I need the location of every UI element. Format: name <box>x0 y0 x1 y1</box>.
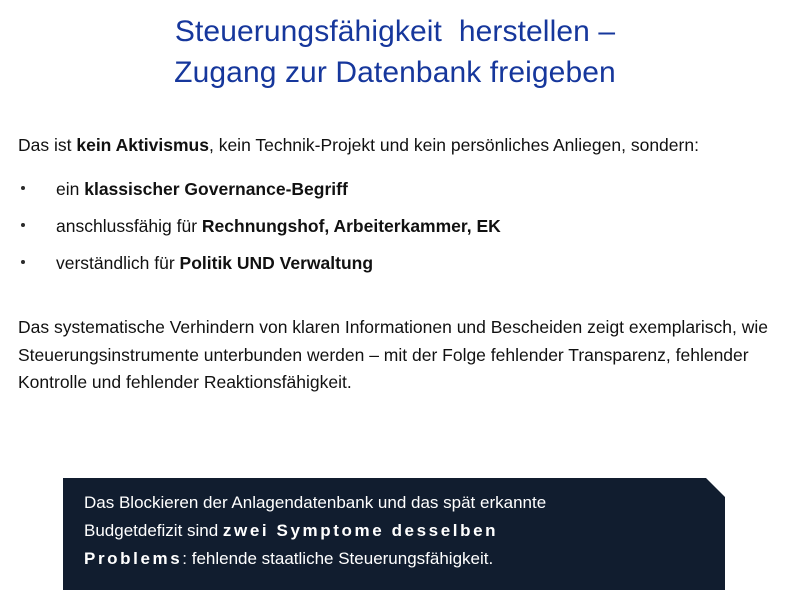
bullet-dot-icon <box>21 223 25 227</box>
slide-body: Das ist kein Aktivismus, kein Technik-Pr… <box>18 130 772 397</box>
callout-line-2-emphasis: zwei Symptome desselben <box>223 521 498 540</box>
bullet-text: verständlich für Politik UND Verwaltung <box>56 253 373 273</box>
bullet-bold: Rechnungshof, Arbeiterkammer, EK <box>202 216 501 236</box>
callout-text: Das Blockieren der Anlagendatenbank und … <box>84 489 711 573</box>
bullet-dot-icon <box>21 186 25 190</box>
bullet-plain-before: anschlussfähig für <box>56 216 202 236</box>
bullet-list: ein klassischer Governance-Begriff ansch… <box>18 176 772 276</box>
explanatory-paragraph: Das systematische Verhindern von klaren … <box>18 314 772 397</box>
page-title: Steuerungsfähigkeit herstellen – Zugang … <box>0 11 790 93</box>
bullet-bold: klassischer Governance-Begriff <box>84 179 348 199</box>
bullet-plain-before: ein <box>56 179 84 199</box>
bullet-text: ein klassischer Governance-Begriff <box>56 179 348 199</box>
page-title-line-2: Zugang zur Datenbank freigeben <box>0 52 790 93</box>
bullet-plain-before: verständlich für <box>56 253 180 273</box>
intro-text-before: Das ist <box>18 135 76 155</box>
bullet-dot-icon <box>21 260 25 264</box>
callout-line-2-plain: Budgetdefizit sind <box>84 521 223 540</box>
bullet-text: anschlussfähig für Rechnungshof, Arbeite… <box>56 216 501 236</box>
callout-line-3-emphasis: Problems <box>84 549 182 568</box>
intro-text-after: , kein Technik-Projekt und kein persönli… <box>209 135 699 155</box>
intro-bold-phrase: kein Aktivismus <box>76 135 209 155</box>
list-item: verständlich für Politik UND Verwaltung <box>18 250 772 276</box>
callout-line-3-plain: : fehlende staatliche Steuerungsfähigkei… <box>182 549 493 568</box>
callout-line-3: Problems: fehlende staatliche Steuerungs… <box>84 545 711 573</box>
callout-line-2: Budgetdefizit sind zwei Symptome desselb… <box>84 517 711 545</box>
intro-paragraph: Das ist kein Aktivismus, kein Technik-Pr… <box>18 130 772 160</box>
page-title-line-1: Steuerungsfähigkeit herstellen – <box>0 11 790 52</box>
list-item: ein klassischer Governance-Begriff <box>18 176 772 202</box>
callout-box: Das Blockieren der Anlagendatenbank und … <box>63 478 725 590</box>
callout-line-1: Das Blockieren der Anlagendatenbank und … <box>84 489 711 517</box>
list-item: anschlussfähig für Rechnungshof, Arbeite… <box>18 213 772 239</box>
bullet-bold: Politik UND Verwaltung <box>180 253 374 273</box>
